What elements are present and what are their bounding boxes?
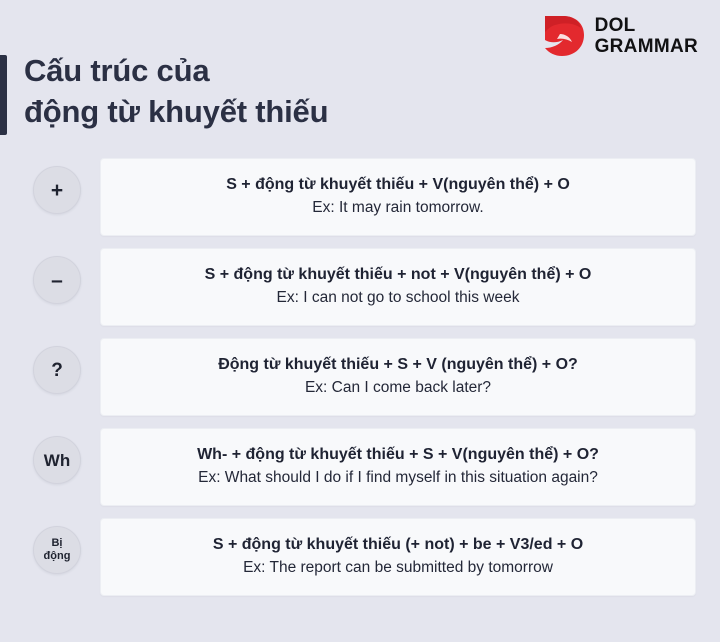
- title-accent-bar: [0, 55, 7, 135]
- structure-rows: + S + động từ khuyết thiếu + V(nguyên th…: [0, 158, 720, 608]
- infographic-page: Cấu trúc của động từ khuyết thiếu DOL GR…: [0, 0, 720, 642]
- card-formula: Động từ khuyết thiếu + S + V (nguyên thể…: [218, 354, 578, 376]
- structure-row: Wh Wh- + động từ khuyết thiếu + S + V(ng…: [0, 428, 720, 518]
- brand-logo: DOL GRAMMAR: [540, 12, 698, 60]
- card-example: Ex: The report can be submitted by tomor…: [243, 556, 553, 580]
- structure-row: – S + động từ khuyết thiếu + not + V(ngu…: [0, 248, 720, 338]
- badge-affirmative: +: [33, 166, 81, 214]
- dol-logo-mark-icon: [540, 12, 586, 60]
- structure-row: Bị động S + động từ khuyết thiếu (+ not)…: [0, 518, 720, 608]
- page-title: Cấu trúc của động từ khuyết thiếu: [24, 50, 328, 132]
- card-example: Ex: It may rain tomorrow.: [312, 196, 483, 220]
- card-example: Ex: I can not go to school this week: [277, 286, 520, 310]
- structure-row: ? Động từ khuyết thiếu + S + V (nguyên t…: [0, 338, 720, 428]
- structure-card: S + động từ khuyết thiếu (+ not) + be + …: [100, 518, 696, 596]
- card-formula: S + động từ khuyết thiếu (+ not) + be + …: [213, 534, 583, 556]
- card-example: Ex: What should I do if I find myself in…: [198, 466, 598, 490]
- card-example: Ex: Can I come back later?: [305, 376, 491, 400]
- card-formula: S + động từ khuyết thiếu + V(nguyên thể)…: [226, 174, 570, 196]
- badge-yes-no-question: ?: [33, 346, 81, 394]
- brand-text: DOL GRAMMAR: [595, 15, 698, 57]
- badge-passive: Bị động: [33, 526, 81, 574]
- structure-card: S + động từ khuyết thiếu + not + V(nguyê…: [100, 248, 696, 326]
- brand-line-1: DOL: [595, 15, 698, 36]
- brand-line-2: GRAMMAR: [595, 36, 698, 57]
- card-formula: Wh- + động từ khuyết thiếu + S + V(nguyê…: [197, 444, 599, 466]
- structure-card: S + động từ khuyết thiếu + V(nguyên thể)…: [100, 158, 696, 236]
- badge-negative: –: [33, 256, 81, 304]
- structure-row: + S + động từ khuyết thiếu + V(nguyên th…: [0, 158, 720, 248]
- structure-card: Wh- + động từ khuyết thiếu + S + V(nguyê…: [100, 428, 696, 506]
- card-formula: S + động từ khuyết thiếu + not + V(nguyê…: [205, 264, 592, 286]
- badge-wh-question: Wh: [33, 436, 81, 484]
- structure-card: Động từ khuyết thiếu + S + V (nguyên thể…: [100, 338, 696, 416]
- header: Cấu trúc của động từ khuyết thiếu DOL GR…: [0, 0, 720, 155]
